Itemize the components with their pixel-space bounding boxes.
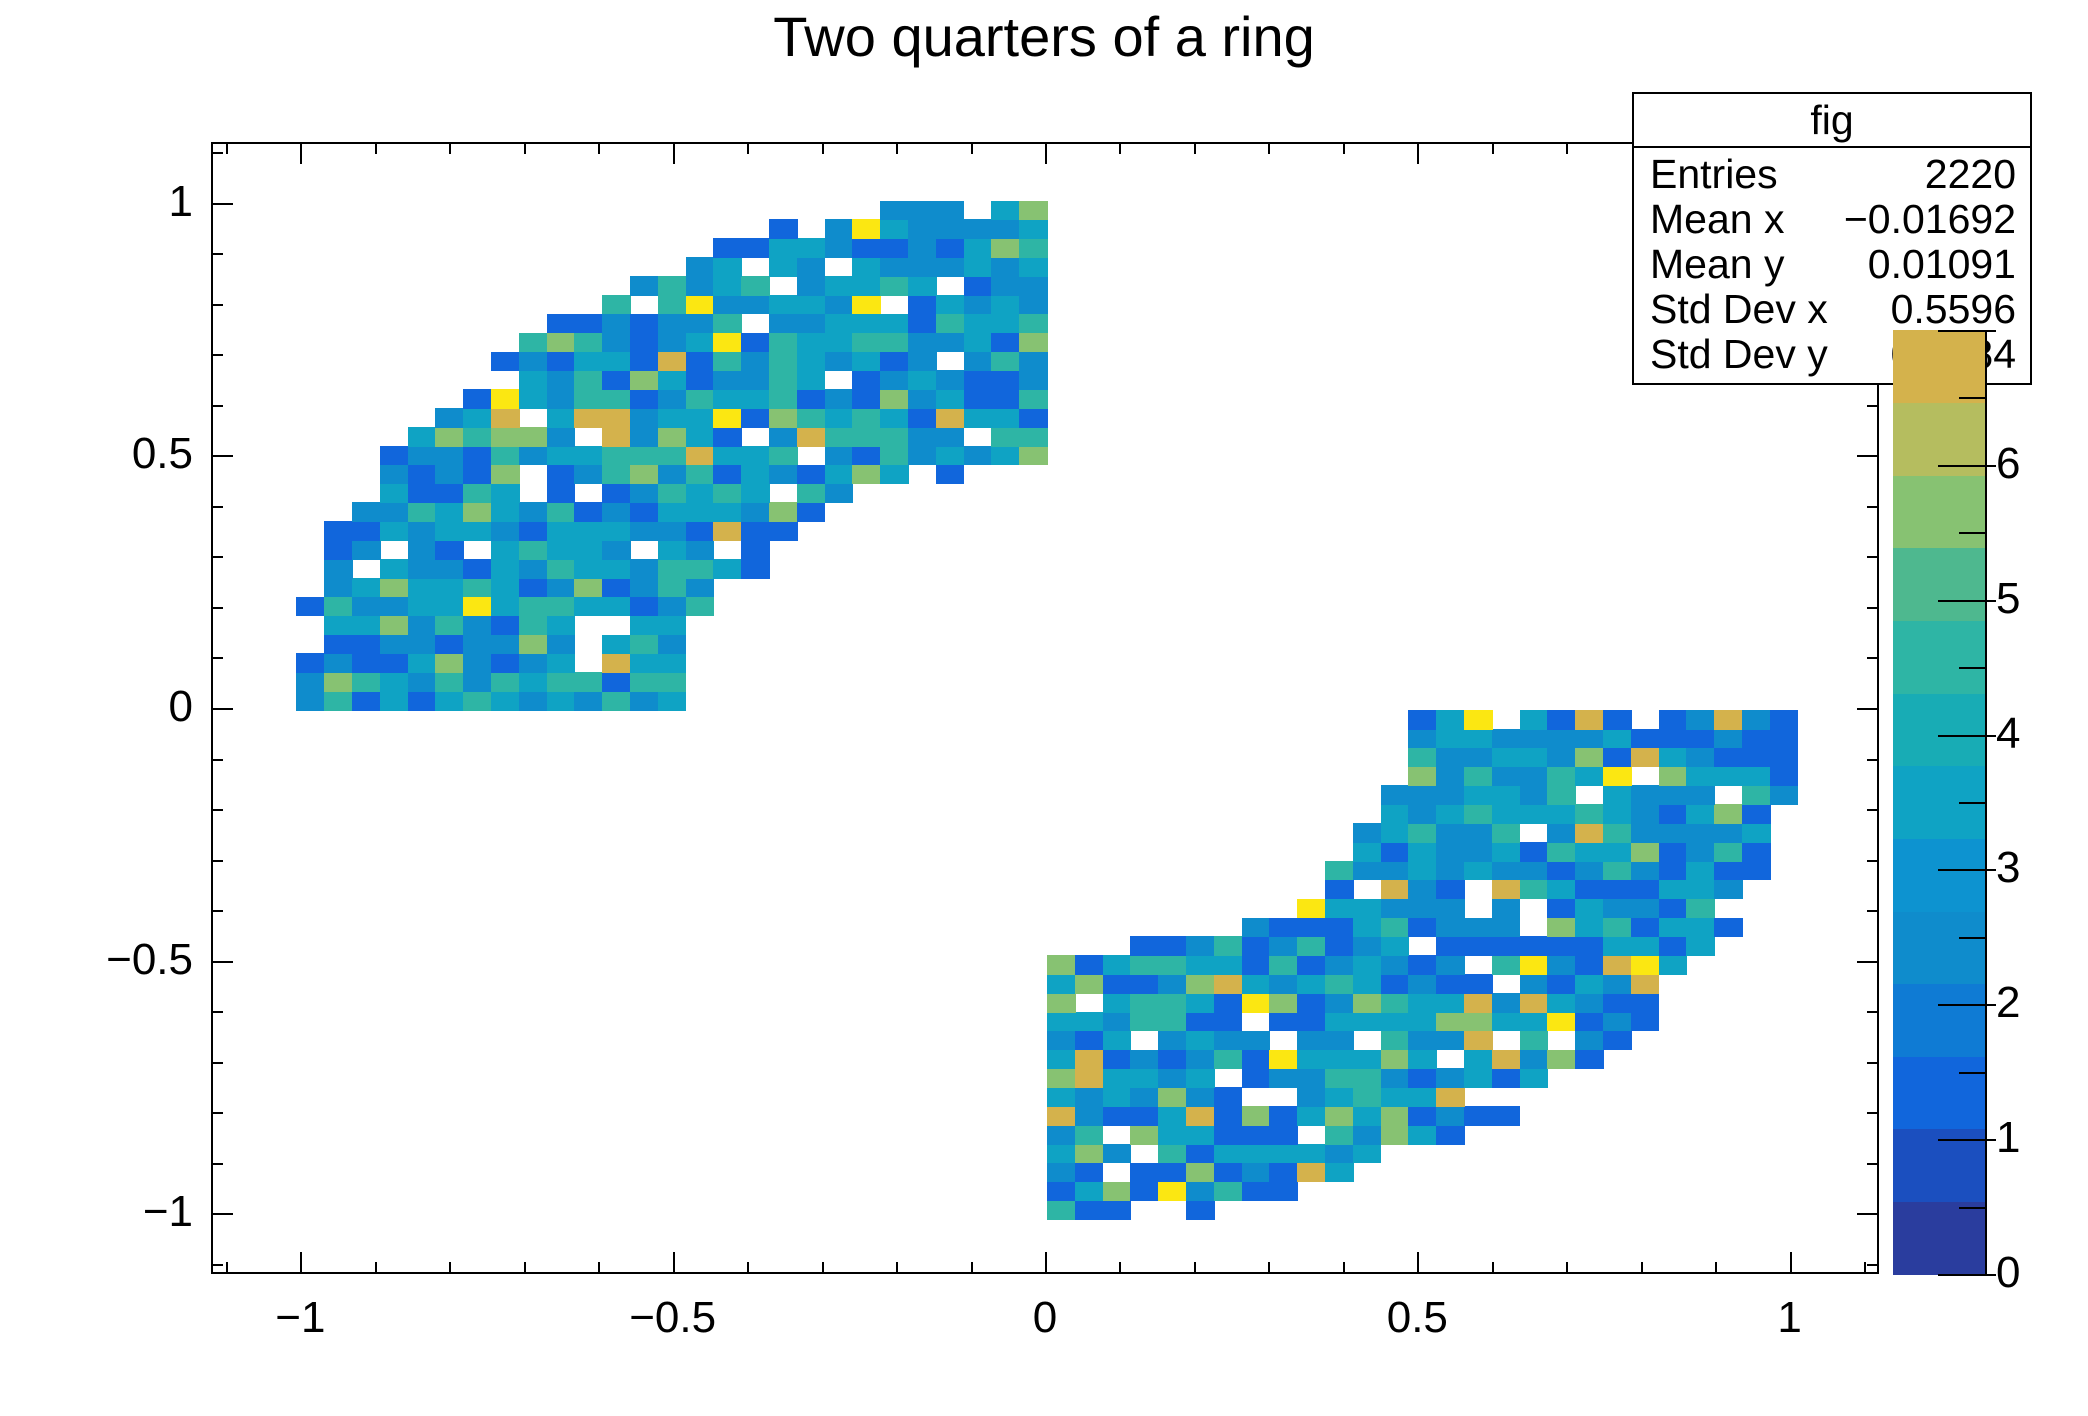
heatmap-bin: [380, 691, 409, 711]
heatmap-bin: [658, 276, 687, 296]
heatmap-bin: [1242, 955, 1271, 975]
y-axis-right-tick: [1867, 860, 1879, 862]
statistics-row: Entries2220: [1634, 152, 2030, 197]
heatmap-bin: [1325, 1125, 1354, 1145]
heatmap-bin: [1686, 748, 1715, 768]
heatmap-bin: [1019, 238, 1048, 258]
heatmap-bin: [519, 597, 548, 617]
heatmap-bin: [852, 333, 881, 353]
statistics-row-label: Mean y: [1650, 241, 1784, 288]
heatmap-bin: [1130, 974, 1159, 994]
heatmap-bin: [1186, 1068, 1215, 1088]
y-axis-right-tick: [1857, 708, 1879, 710]
x-axis-tick-label: 0.5: [1317, 1294, 1517, 1342]
heatmap-bin: [1547, 861, 1576, 881]
statistics-row-label: Mean x: [1650, 196, 1784, 243]
color-palette-minor-tick: [1959, 937, 1985, 939]
heatmap-bin: [1019, 370, 1048, 390]
heatmap-bin: [408, 653, 437, 673]
heatmap-bin: [547, 653, 576, 673]
x-axis-top-tick: [1492, 142, 1494, 154]
heatmap-bin: [964, 257, 993, 277]
heatmap-bin: [1047, 955, 1076, 975]
heatmap-bin: [547, 352, 576, 372]
heatmap-bin: [1436, 710, 1465, 730]
heatmap-bin: [825, 333, 854, 353]
heatmap-bin: [1492, 899, 1521, 919]
heatmap-bin: [1742, 785, 1771, 805]
heatmap-bin: [1325, 1012, 1354, 1032]
heatmap-bin: [602, 314, 631, 334]
y-axis-right-tick: [1867, 1163, 1879, 1165]
heatmap-bin: [1492, 955, 1521, 975]
heatmap-bin: [574, 465, 603, 485]
heatmap-bin: [1353, 918, 1382, 938]
heatmap-bin: [1075, 1087, 1104, 1107]
heatmap-bin: [852, 408, 881, 428]
heatmap-bin: [964, 276, 993, 296]
heatmap-bin: [630, 389, 659, 409]
heatmap-bin: [1269, 1050, 1298, 1070]
heatmap-bin: [991, 201, 1020, 221]
x-axis-top-tick: [896, 142, 898, 154]
heatmap-bin: [658, 616, 687, 636]
heatmap-bin: [519, 635, 548, 655]
heatmap-bin: [519, 691, 548, 711]
x-axis-minor-tick: [598, 1262, 600, 1274]
heatmap-bin: [1408, 748, 1437, 768]
heatmap-bin: [1408, 823, 1437, 843]
y-axis-minor-tick: [211, 1163, 223, 1165]
heatmap-bin: [491, 465, 520, 485]
heatmap-bin: [435, 484, 464, 504]
heatmap-bin: [463, 521, 492, 541]
y-axis-right-tick: [1867, 759, 1879, 761]
heatmap-bin: [519, 521, 548, 541]
heatmap-bin: [1603, 993, 1632, 1013]
heatmap-bin: [964, 352, 993, 372]
heatmap-bin: [435, 691, 464, 711]
y-axis-major-tick: [211, 961, 233, 963]
heatmap-bin: [1659, 899, 1688, 919]
heatmap-bin: [324, 540, 353, 560]
heatmap-bin: [964, 219, 993, 239]
heatmap-bin: [936, 201, 965, 221]
heatmap-bin: [686, 559, 715, 579]
heatmap-bin: [880, 238, 909, 258]
heatmap-bin: [797, 257, 826, 277]
heatmap-bin: [1325, 1087, 1354, 1107]
heatmap-bin: [1631, 880, 1660, 900]
heatmap-bin: [408, 502, 437, 522]
heatmap-bin: [880, 465, 909, 485]
heatmap-bin: [1353, 1087, 1382, 1107]
heatmap-bin: [1520, 974, 1549, 994]
heatmap-bin: [1520, 1031, 1549, 1051]
heatmap-bin: [1269, 974, 1298, 994]
color-palette-major-tick: [1938, 735, 1996, 737]
heatmap-bin: [602, 635, 631, 655]
heatmap-bin: [991, 408, 1020, 428]
heatmap-bin: [1103, 1031, 1132, 1051]
heatmap-bin: [630, 578, 659, 598]
heatmap-bin: [991, 333, 1020, 353]
heatmap-bin: [1130, 1050, 1159, 1070]
heatmap-bin: [630, 333, 659, 353]
heatmap-bin: [1436, 1106, 1465, 1126]
heatmap-bin: [408, 521, 437, 541]
heatmap-bin: [1325, 1031, 1354, 1051]
heatmap-bin: [1186, 1087, 1215, 1107]
heatmap-bin: [1158, 1012, 1187, 1032]
y-axis-right-tick: [1857, 1213, 1879, 1215]
heatmap-bin: [491, 540, 520, 560]
heatmap-bin: [741, 352, 770, 372]
heatmap-bin: [1631, 861, 1660, 881]
color-palette-band: [1893, 911, 1985, 984]
heatmap-bin: [1242, 1163, 1271, 1183]
x-axis-tick-label: 0: [945, 1294, 1145, 1342]
color-palette-minor-tick: [1959, 802, 1985, 804]
heatmap-bin: [1603, 880, 1632, 900]
heatmap-bin: [1492, 936, 1521, 956]
heatmap-bin: [1631, 899, 1660, 919]
y-axis-major-tick: [211, 455, 233, 457]
heatmap-bin: [519, 616, 548, 636]
color-palette-major-tick: [1938, 1139, 1996, 1141]
heatmap-bin: [380, 465, 409, 485]
heatmap-bin: [491, 389, 520, 409]
heatmap-bin: [686, 484, 715, 504]
heatmap-bin: [491, 408, 520, 428]
x-axis-minor-tick: [1715, 1262, 1717, 1274]
heatmap-bin: [1381, 936, 1410, 956]
heatmap-bin: [1659, 936, 1688, 956]
heatmap-bin: [1408, 880, 1437, 900]
heatmap-bin: [1714, 710, 1743, 730]
heatmap-bin: [1575, 993, 1604, 1013]
heatmap-bin: [1353, 1125, 1382, 1145]
heatmap-bin: [713, 521, 742, 541]
heatmap-bin: [1242, 1182, 1271, 1202]
heatmap-bin: [1186, 993, 1215, 1013]
heatmap-bin: [1103, 1087, 1132, 1107]
x-axis-top-tick: [598, 142, 600, 154]
y-axis-right-tick: [1867, 1112, 1879, 1114]
heatmap-bin: [1742, 823, 1771, 843]
heatmap-bin: [1575, 1012, 1604, 1032]
heatmap-bin: [1130, 936, 1159, 956]
heatmap-bin: [1575, 861, 1604, 881]
heatmap-bin: [1130, 1068, 1159, 1088]
color-palette-band: [1893, 620, 1985, 693]
heatmap-bin: [964, 238, 993, 258]
heatmap-bin: [408, 484, 437, 504]
heatmap-bin: [713, 502, 742, 522]
heatmap-bin: [1381, 955, 1410, 975]
heatmap-bin: [1436, 1087, 1465, 1107]
color-palette-band: [1893, 693, 1985, 766]
y-axis-minor-tick: [211, 1062, 223, 1064]
heatmap-bin: [1075, 974, 1104, 994]
heatmap-bin: [1547, 899, 1576, 919]
heatmap-bin: [574, 540, 603, 560]
heatmap-bin: [380, 502, 409, 522]
heatmap-bin: [1659, 748, 1688, 768]
heatmap-bin: [1436, 880, 1465, 900]
heatmap-bin: [1297, 936, 1326, 956]
heatmap-bin: [1547, 1050, 1576, 1070]
heatmap-bin: [825, 389, 854, 409]
heatmap-bin: [880, 314, 909, 334]
heatmap-bin: [574, 333, 603, 353]
heatmap-bin: [1770, 785, 1799, 805]
heatmap-bin: [352, 672, 381, 692]
color-palette-band: [1893, 330, 1985, 403]
heatmap-bin: [1575, 899, 1604, 919]
heatmap-bin: [880, 446, 909, 466]
heatmap-bin: [908, 333, 937, 353]
heatmap-bin: [1047, 1106, 1076, 1126]
heatmap-bin: [1242, 974, 1271, 994]
heatmap-bin: [1408, 767, 1437, 787]
heatmap-bin: [574, 559, 603, 579]
heatmap-bin: [435, 427, 464, 447]
heatmap-bin: [797, 502, 826, 522]
heatmap-bin: [1325, 861, 1354, 881]
y-axis-right-tick: [1867, 607, 1879, 609]
heatmap-bin: [574, 408, 603, 428]
heatmap-bin: [713, 446, 742, 466]
heatmap-bin: [1242, 936, 1271, 956]
heatmap-bin: [1714, 880, 1743, 900]
heatmap-bin: [1130, 1012, 1159, 1032]
heatmap-bin: [1325, 1068, 1354, 1088]
heatmap-bin: [1297, 1106, 1326, 1126]
x-axis-minor-tick: [1268, 1262, 1270, 1274]
heatmap-bin: [991, 427, 1020, 447]
heatmap-bin: [936, 219, 965, 239]
heatmap-bin: [1186, 955, 1215, 975]
heatmap-bin: [1547, 993, 1576, 1013]
heatmap-bin: [519, 370, 548, 390]
heatmap-bin: [1492, 1050, 1521, 1070]
heatmap-bin: [491, 691, 520, 711]
heatmap-bin: [1381, 1068, 1410, 1088]
heatmap-bin: [630, 559, 659, 579]
heatmap-bin: [1269, 1125, 1298, 1145]
heatmap-bin: [1158, 936, 1187, 956]
x-axis-major-tick: [1417, 1252, 1419, 1274]
heatmap-bin: [1436, 955, 1465, 975]
heatmap-bin: [547, 672, 576, 692]
heatmap-bin: [1631, 974, 1660, 994]
x-axis-top-tick: [300, 142, 302, 164]
heatmap-bin: [1047, 1012, 1076, 1032]
heatmap-bin: [463, 389, 492, 409]
heatmap-bin: [602, 521, 631, 541]
heatmap-bin: [1381, 1012, 1410, 1032]
heatmap-bin: [547, 446, 576, 466]
heatmap-bin: [1742, 710, 1771, 730]
heatmap-bin: [769, 389, 798, 409]
heatmap-bin: [797, 314, 826, 334]
heatmap-bin: [1186, 1012, 1215, 1032]
heatmap-bin: [1714, 861, 1743, 881]
heatmap-bin: [797, 389, 826, 409]
heatmap-bin: [463, 502, 492, 522]
heatmap-bin: [880, 276, 909, 296]
x-axis-minor-tick: [1492, 1262, 1494, 1274]
heatmap-bin: [1186, 1125, 1215, 1145]
heatmap-bin: [408, 559, 437, 579]
heatmap-bin: [1547, 729, 1576, 749]
heatmap-bin: [1325, 880, 1354, 900]
heatmap-bin: [1075, 1050, 1104, 1070]
heatmap-bin: [491, 616, 520, 636]
x-axis-top-tick: [673, 142, 675, 164]
heatmap-bin: [1381, 1031, 1410, 1051]
heatmap-bin: [463, 578, 492, 598]
heatmap-bin: [1325, 899, 1354, 919]
heatmap-bin: [630, 521, 659, 541]
heatmap-bin: [686, 257, 715, 277]
heatmap-bin: [1770, 767, 1799, 787]
heatmap-bin: [908, 389, 937, 409]
heatmap-bin: [1464, 767, 1493, 787]
heatmap-bin: [741, 559, 770, 579]
heatmap-bin: [686, 333, 715, 353]
x-axis-top-tick: [747, 142, 749, 154]
heatmap-bin: [686, 314, 715, 334]
heatmap-bin: [463, 484, 492, 504]
heatmap-bin: [630, 616, 659, 636]
heatmap-bin: [519, 502, 548, 522]
heatmap-bin: [1575, 1031, 1604, 1051]
heatmap-bin: [852, 295, 881, 315]
heatmap-bin: [547, 389, 576, 409]
heatmap-bin: [991, 276, 1020, 296]
x-axis-top-tick: [1566, 142, 1568, 154]
heatmap-bin: [713, 238, 742, 258]
heatmap-bin: [797, 333, 826, 353]
heatmap-bin: [1436, 804, 1465, 824]
heatmap-bin: [991, 295, 1020, 315]
heatmap-bin: [380, 484, 409, 504]
heatmap-bin: [880, 389, 909, 409]
heatmap-bin: [1436, 1012, 1465, 1032]
heatmap-bin: [1464, 918, 1493, 938]
heatmap-bin: [1603, 899, 1632, 919]
heatmap-bin: [1269, 955, 1298, 975]
heatmap-bin: [602, 352, 631, 372]
heatmap-bin: [1325, 936, 1354, 956]
heatmap-bin: [713, 370, 742, 390]
heatmap-bin: [324, 597, 353, 617]
heatmap-bin: [825, 295, 854, 315]
heatmap-bin: [658, 484, 687, 504]
heatmap-bin: [1770, 748, 1799, 768]
heatmap-bin: [574, 314, 603, 334]
heatmap-bin: [1353, 1050, 1382, 1070]
heatmap-bin: [797, 238, 826, 258]
y-axis-minor-tick: [211, 657, 223, 659]
heatmap-bin: [1575, 918, 1604, 938]
heatmap-bin: [741, 370, 770, 390]
color-palette-minor-tick: [1959, 667, 1985, 669]
heatmap-bin: [936, 238, 965, 258]
heatmap-bin: [686, 540, 715, 560]
heatmap-bin: [1408, 899, 1437, 919]
y-axis-minor-tick: [211, 253, 223, 255]
heatmap-bin: [463, 427, 492, 447]
heatmap-bin: [1547, 918, 1576, 938]
heatmap-bin: [602, 446, 631, 466]
heatmap-bin: [1214, 993, 1243, 1013]
heatmap-bin: [1186, 1163, 1215, 1183]
heatmap-bin: [1603, 804, 1632, 824]
heatmap-bin: [797, 276, 826, 296]
heatmap-bin: [658, 333, 687, 353]
heatmap-bin: [1158, 1106, 1187, 1126]
heatmap-bin: [658, 446, 687, 466]
heatmap-bin: [658, 559, 687, 579]
heatmap-bin: [1659, 842, 1688, 862]
heatmap-bin: [1269, 1068, 1298, 1088]
heatmap-bin: [352, 691, 381, 711]
x-axis-top-tick: [1268, 142, 1270, 154]
heatmap-bin: [1686, 861, 1715, 881]
heatmap-bin: [1575, 974, 1604, 994]
heatmap-bin: [547, 540, 576, 560]
heatmap-bin: [1186, 1106, 1215, 1126]
y-axis-right-tick: [1857, 455, 1879, 457]
heatmap-bin: [602, 408, 631, 428]
heatmap-bin: [463, 597, 492, 617]
heatmap-bin: [1436, 785, 1465, 805]
heatmap-bin: [1019, 333, 1048, 353]
heatmap-bin: [686, 465, 715, 485]
heatmap-bin: [825, 465, 854, 485]
heatmap-bin: [769, 314, 798, 334]
statistics-row-value: 0.5596: [1891, 286, 2016, 333]
heatmap-bin: [936, 295, 965, 315]
heatmap-bin: [630, 502, 659, 522]
heatmap-bin: [1492, 823, 1521, 843]
heatmap-bin: [519, 672, 548, 692]
color-palette-tick-label: 2: [1996, 979, 2020, 1027]
heatmap-bin: [1103, 1182, 1132, 1202]
heatmap-bin: [1742, 842, 1771, 862]
heatmap-bin: [936, 257, 965, 277]
heatmap-bin: [1075, 1106, 1104, 1126]
heatmap-bin: [1297, 993, 1326, 1013]
heatmap-bin: [1436, 823, 1465, 843]
heatmap-bin: [1436, 993, 1465, 1013]
heatmap-bin: [1436, 899, 1465, 919]
heatmap-bin: [1103, 1144, 1132, 1164]
statistics-box-title: fig: [1634, 94, 2030, 148]
color-palette-tick-label: 0: [1996, 1249, 2020, 1297]
y-axis-minor-tick: [211, 556, 223, 558]
heatmap-bin: [713, 427, 742, 447]
heatmap-bin: [1631, 936, 1660, 956]
heatmap-bin: [324, 578, 353, 598]
heatmap-bin: [630, 352, 659, 372]
x-axis-top-tick: [226, 142, 228, 154]
heatmap-bin: [769, 408, 798, 428]
y-axis-minor-tick: [211, 759, 223, 761]
